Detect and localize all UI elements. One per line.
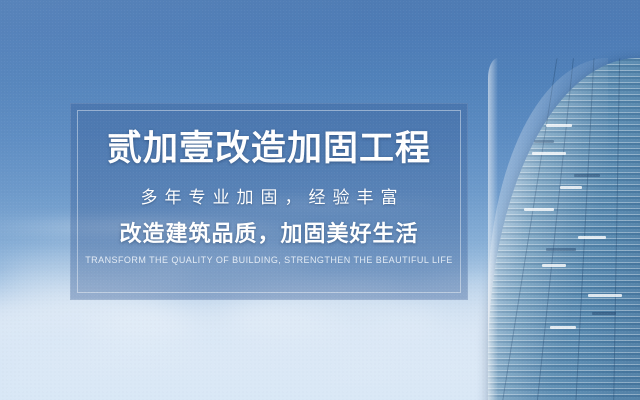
hero-banner: 贰加壹改造加固工程 多年专业加固，经验丰富 改造建筑品质，加固美好生活 TRAN…: [0, 0, 640, 400]
page-subheading: 多年专业加固，经验丰富: [134, 189, 405, 208]
page-tagline-english: TRANSFORM THE QUALITY OF BUILDING, STREN…: [85, 256, 453, 266]
panel-content: 贰加壹改造加固工程 多年专业加固，经验丰富 改造建筑品质，加固美好生活 TRAN…: [70, 103, 468, 300]
window-highlight: [546, 124, 572, 127]
page-tagline: 改造建筑品质，加固美好生活: [119, 222, 418, 246]
hero-text-panel: 贰加壹改造加固工程 多年专业加固，经验丰富 改造建筑品质，加固美好生活 TRAN…: [70, 103, 468, 300]
skyscraper-image: [470, 0, 640, 400]
page-title: 贰加壹改造加固工程: [107, 130, 431, 167]
skyscraper-body: [488, 58, 640, 400]
window-dark: [546, 248, 576, 251]
window-highlight: [524, 208, 554, 211]
window-highlight: [550, 326, 576, 329]
window-highlight: [588, 294, 622, 297]
window-highlight: [578, 236, 606, 239]
window-highlight: [532, 152, 566, 155]
window-highlight: [560, 186, 582, 189]
building-edge-glow: [488, 58, 498, 400]
window-highlight: [542, 264, 566, 267]
window-dark: [592, 312, 616, 315]
window-dark: [534, 140, 554, 143]
window-dark: [574, 174, 600, 177]
